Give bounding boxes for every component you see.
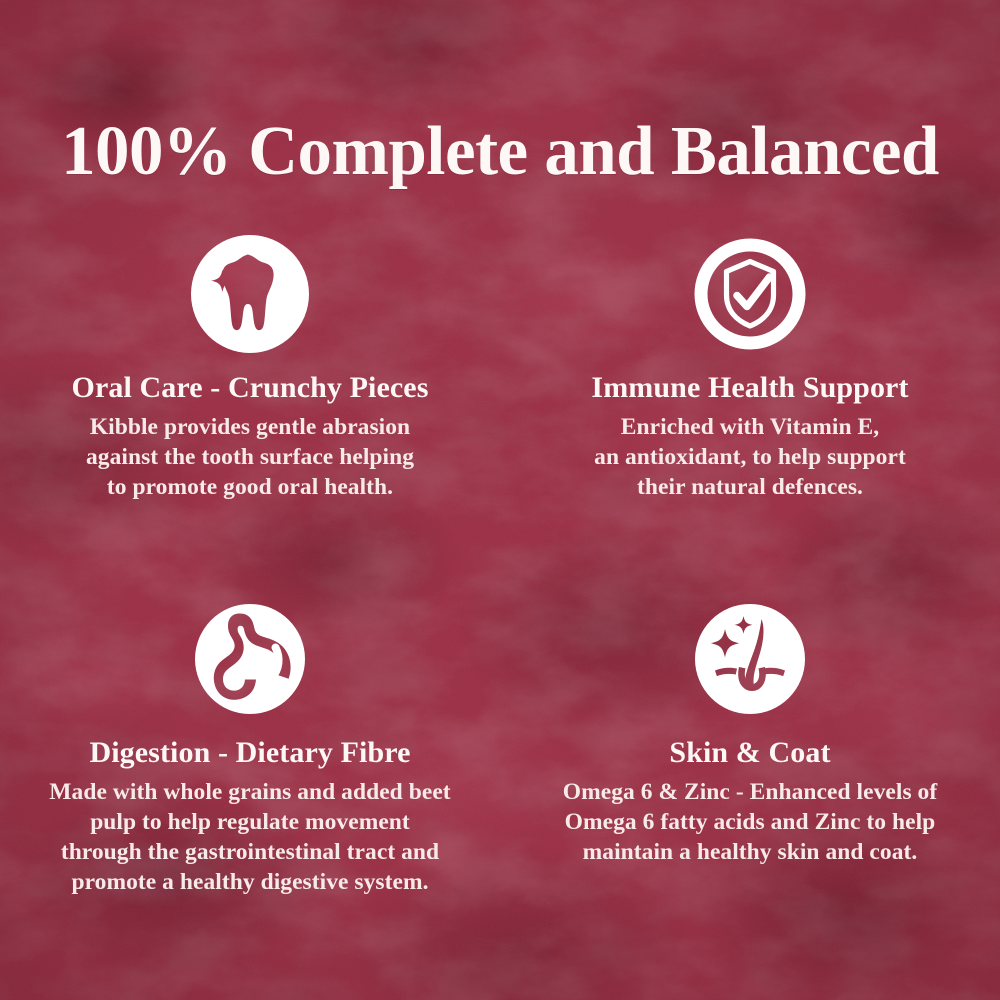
feature-description: Omega 6 & Zinc - Enhanced levels of Omeg… <box>504 777 996 867</box>
feature-card-skin-coat: Skin & Coat Omega 6 & Zinc - Enhanced le… <box>500 595 1000 867</box>
feature-title: Oral Care - Crunchy Pieces <box>0 372 500 404</box>
tooth-sparkle-icon <box>0 230 500 358</box>
feature-description: Kibble provides gentle abrasion against … <box>30 412 470 502</box>
feature-description: Made with whole grains and added beet pu… <box>0 777 500 897</box>
features-grid: Oral Care - Crunchy Pieces Kibble provid… <box>0 230 1000 990</box>
stomach-arrow-icon <box>0 595 500 723</box>
promo-poster: 100% Complete and Balanced <box>0 0 1000 1000</box>
feature-title: Immune Health Support <box>500 372 1000 404</box>
feature-title: Digestion - Dietary Fibre <box>0 737 500 769</box>
hair-follicle-sparkle-icon <box>500 595 1000 723</box>
feature-card-immune-health: Immune Health Support Enriched with Vita… <box>500 230 1000 502</box>
page-title: 100% Complete and Balanced <box>8 117 993 187</box>
shield-check-icon <box>500 230 1000 358</box>
feature-title: Skin & Coat <box>500 737 1000 769</box>
feature-card-digestion: Digestion - Dietary Fibre Made with whol… <box>0 595 500 897</box>
feature-description: Enriched with Vitamin E, an antioxidant,… <box>540 412 960 502</box>
feature-card-oral-care: Oral Care - Crunchy Pieces Kibble provid… <box>0 230 500 502</box>
